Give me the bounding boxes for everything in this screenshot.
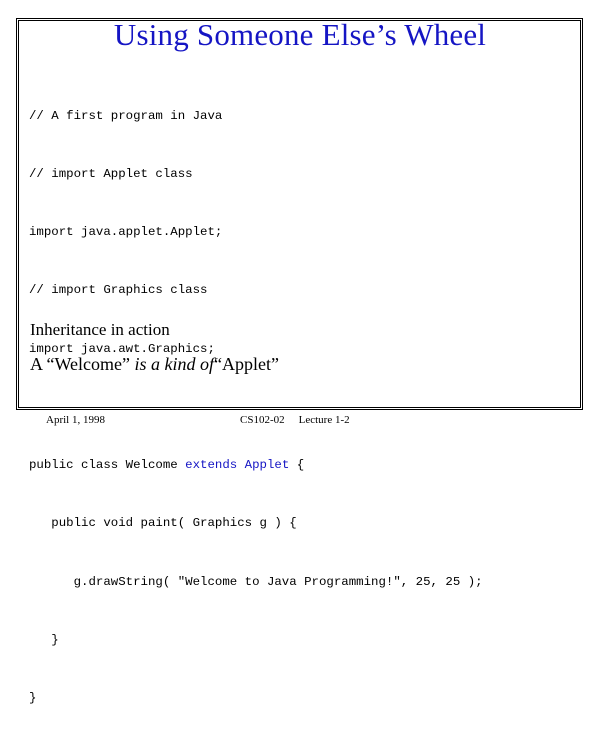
prose-line-welcome-applet: A “Welcome” is a kind of“Applet” — [30, 352, 279, 376]
code-line: // import Applet class — [29, 165, 483, 184]
page-title: Using Someone Else’s Wheel — [0, 18, 600, 52]
prose-text: “Applet” — [214, 354, 279, 374]
code-line: // import Graphics class — [29, 281, 483, 300]
code-line: g.drawString( "Welcome to Java Programmi… — [29, 573, 483, 592]
footer-date: April 1, 1998 — [46, 413, 105, 428]
code-line: } — [29, 689, 483, 708]
footer-lecture-number: Lecture 1-2 — [299, 414, 350, 426]
java-code-block: // A first program in Java // import App… — [29, 68, 483, 747]
code-line: } — [29, 631, 483, 650]
code-line: public void paint( Graphics g ) { — [29, 514, 483, 533]
code-text: public class Welcome — [29, 458, 185, 472]
code-line: public class Welcome extends Applet { — [29, 456, 483, 475]
code-line: // A first program in Java — [29, 107, 483, 126]
prose-italic-phrase: is a kind of — [135, 354, 215, 374]
slide: Using Someone Else’s Wheel // A first pr… — [0, 0, 600, 450]
code-line: import java.applet.Applet; — [29, 223, 483, 242]
footer-course-info: CS102-02Lecture 1-2 — [240, 413, 350, 428]
footer-course-code: CS102-02 — [240, 414, 285, 426]
slide-footer: April 1, 1998 CS102-02Lecture 1-2 — [0, 411, 600, 441]
prose-line-inheritance: Inheritance in action — [30, 319, 170, 341]
prose-text: A “Welcome” — [30, 354, 135, 374]
code-keyword: extends Applet — [185, 458, 289, 472]
code-text: { — [289, 458, 304, 472]
